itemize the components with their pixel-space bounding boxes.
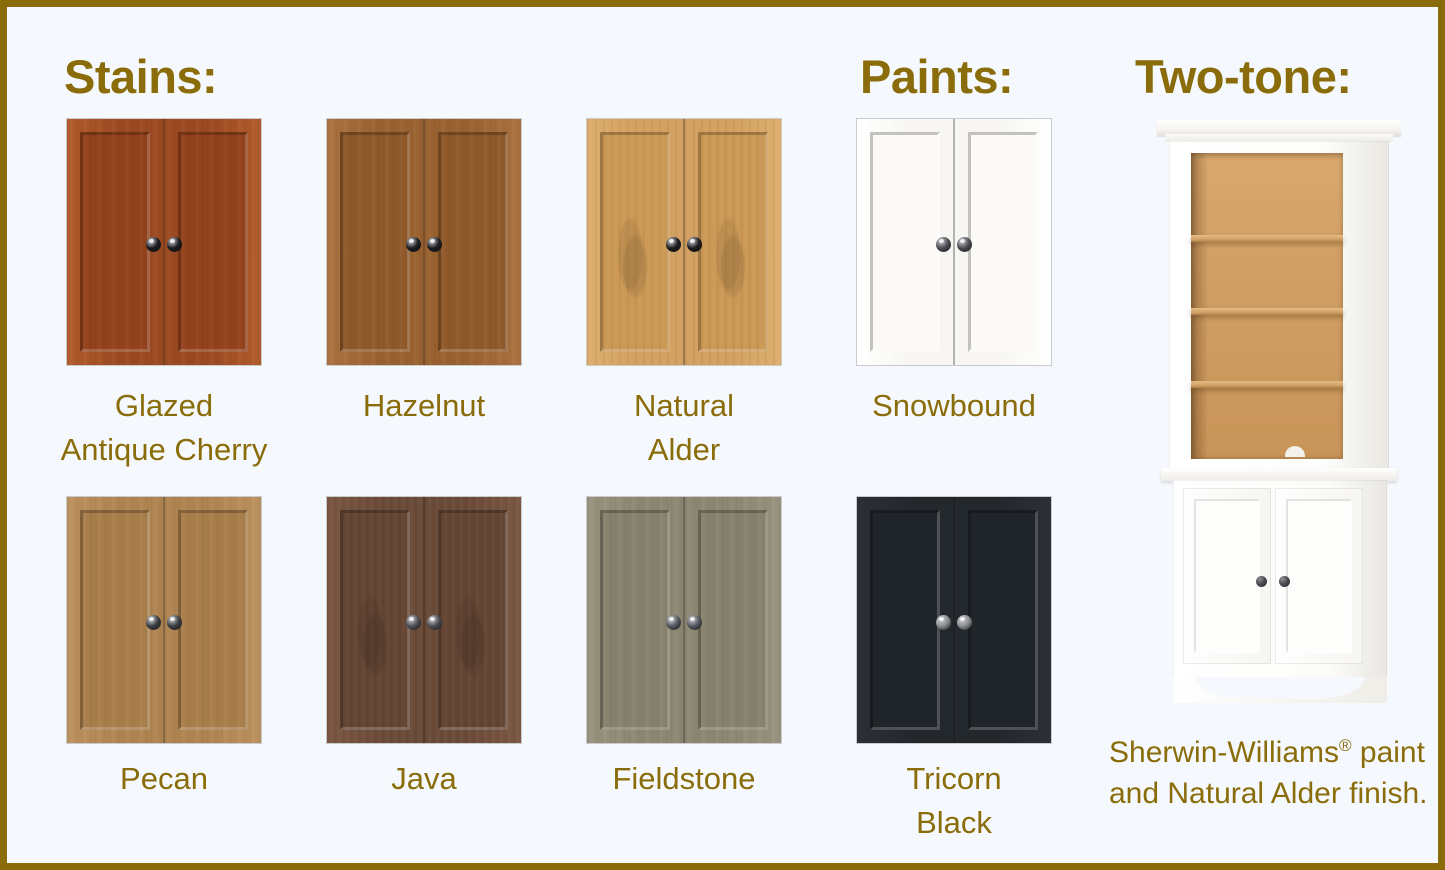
cabinet-door-right	[683, 119, 781, 365]
door-inner-panel	[870, 510, 940, 730]
cabinet-door-right	[683, 497, 781, 743]
cabinet-door-right	[953, 119, 1051, 365]
finish-sample-tricorn-black[interactable]	[856, 496, 1052, 744]
bookcase-base-cabinet	[1173, 480, 1387, 695]
cabinet-door-left	[587, 119, 683, 365]
finish-label-line1: Glazed	[24, 384, 304, 428]
door-inner-panel	[870, 132, 940, 352]
cabinet-knob-icon[interactable]	[687, 237, 702, 252]
cabinet-door-pair	[66, 496, 262, 744]
cabinet-knob-icon[interactable]	[936, 615, 951, 630]
door-inner-panel	[438, 510, 508, 730]
heading-stains: Stains:	[64, 49, 217, 104]
bookcase-apron	[1173, 677, 1387, 703]
cabinet-knob-icon[interactable]	[406, 615, 421, 630]
cabinet-door-pair	[586, 496, 782, 744]
poster-canvas: Stains: Paints: Two-tone: GlazedAntique …	[7, 7, 1438, 863]
cabinet-knob-icon[interactable]	[146, 615, 161, 630]
cabinet-door-pair	[856, 496, 1052, 744]
door-inner-panel	[178, 510, 248, 730]
door-inner-panel	[968, 132, 1038, 352]
finish-label-line1: Tricorn	[814, 757, 1094, 801]
cabinet-door-pair	[586, 118, 782, 366]
finish-label-line1: Pecan	[24, 757, 304, 801]
cabinet-door-left	[327, 119, 423, 365]
cabinet-door-pair	[66, 118, 262, 366]
cabinet-door-right	[423, 497, 521, 743]
cabinet-knob-icon[interactable]	[957, 237, 972, 252]
caption-brand: Sherwin-Williams	[1109, 736, 1339, 769]
cabinet-door-pair	[326, 496, 522, 744]
cabinet-knob-icon[interactable]	[957, 615, 972, 630]
cabinet-door-pair	[856, 118, 1052, 366]
bookcase-shelf	[1191, 308, 1343, 315]
two-tone-caption: Sherwin-Williams® paint and Natural Alde…	[1109, 725, 1438, 814]
cabinet-door-right	[953, 497, 1051, 743]
cabinet-knob-icon[interactable]	[427, 615, 442, 630]
finish-label-line2: Antique Cherry	[24, 428, 304, 472]
finish-label-line1: Snowbound	[814, 384, 1094, 428]
cabinet-knob-icon[interactable]	[687, 615, 702, 630]
cabinet-door-right	[163, 497, 261, 743]
finish-label-snowbound: Snowbound	[814, 384, 1094, 428]
door-inner-panel	[340, 510, 410, 730]
finish-sample-snowbound[interactable]	[856, 118, 1052, 366]
cabinet-knob-icon[interactable]	[666, 615, 681, 630]
cabinet-knob-icon[interactable]	[167, 237, 182, 252]
finish-label-line1: Hazelnut	[284, 384, 564, 428]
bookcase-interior-wood	[1191, 153, 1343, 459]
cabinet-knob-icon[interactable]	[167, 615, 182, 630]
finish-sample-natural-alder[interactable]	[586, 118, 782, 366]
finish-label-line1: Fieldstone	[544, 757, 824, 801]
cabinet-door-left	[67, 497, 163, 743]
two-tone-bookcase-image	[1155, 120, 1415, 720]
door-inner-panel	[438, 132, 508, 352]
cabinet-knob-icon[interactable]	[427, 237, 442, 252]
door-inner-panel	[698, 510, 768, 730]
cabinet-door-right	[163, 119, 261, 365]
bookcase-base-door-right	[1275, 488, 1363, 664]
heading-paints: Paints:	[860, 49, 1013, 104]
cabinet-knob-icon[interactable]	[406, 237, 421, 252]
cabinet-door-right	[423, 119, 521, 365]
finish-label-line2: Alder	[544, 428, 824, 472]
door-inner-panel	[80, 510, 150, 730]
finish-label-glazed-antique-cherry: GlazedAntique Cherry	[24, 384, 304, 472]
door-inner-panel	[600, 510, 670, 730]
finish-label-fieldstone: Fieldstone	[544, 757, 824, 801]
cabinet-knob-icon	[1256, 576, 1267, 587]
finish-label-pecan: Pecan	[24, 757, 304, 801]
cabinet-door-left	[587, 497, 683, 743]
finish-label-tricorn-black: TricornBlack	[814, 757, 1094, 845]
finish-label-natural-alder: NaturalAlder	[544, 384, 824, 472]
finish-label-line1: Java	[284, 757, 564, 801]
finish-label-java: Java	[284, 757, 564, 801]
door-inner-panel	[80, 132, 150, 352]
cabinet-door-left	[67, 119, 163, 365]
registered-mark-icon: ®	[1339, 736, 1352, 755]
door-inner-panel	[600, 132, 670, 352]
finish-label-line1: Natural	[544, 384, 824, 428]
cabinet-knob-icon[interactable]	[666, 237, 681, 252]
finish-sample-hazelnut[interactable]	[326, 118, 522, 366]
finish-sample-glazed-antique-cherry[interactable]	[66, 118, 262, 366]
finish-sample-fieldstone[interactable]	[586, 496, 782, 744]
cabinet-door-left	[857, 497, 953, 743]
door-inner-panel	[340, 132, 410, 352]
bookcase-base-door-left	[1183, 488, 1271, 664]
cabinet-knob-icon	[1279, 576, 1290, 587]
finish-sample-java[interactable]	[326, 496, 522, 744]
cabinet-knob-icon[interactable]	[936, 237, 951, 252]
door-inner-panel	[968, 510, 1038, 730]
bookcase-shelf	[1191, 381, 1343, 388]
bookcase-shelf	[1191, 235, 1343, 242]
cabinet-door-left	[327, 497, 423, 743]
bookcase-hutch	[1169, 141, 1389, 471]
door-inner-panel	[1194, 499, 1260, 653]
cabinet-door-pair	[326, 118, 522, 366]
door-inner-panel	[1286, 499, 1352, 653]
door-inner-panel	[698, 132, 768, 352]
door-inner-panel	[178, 132, 248, 352]
cabinet-door-left	[857, 119, 953, 365]
finish-label-hazelnut: Hazelnut	[284, 384, 564, 428]
bookcase-wire-notch	[1285, 446, 1305, 457]
finish-label-line2: Black	[814, 801, 1094, 845]
heading-two-tone: Two-tone:	[1135, 49, 1352, 104]
finish-sample-pecan[interactable]	[66, 496, 262, 744]
cabinet-knob-icon[interactable]	[146, 237, 161, 252]
